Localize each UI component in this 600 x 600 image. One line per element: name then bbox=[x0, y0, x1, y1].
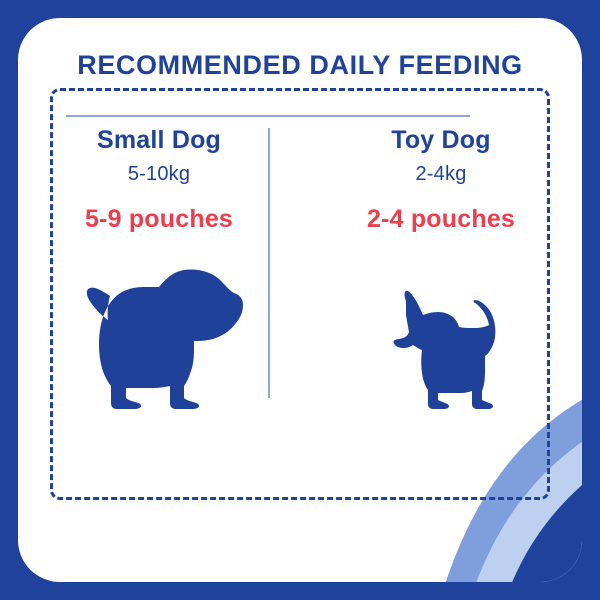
white-card: RECOMMENDED DAILY FEEDING Small Dog 5-10… bbox=[18, 18, 582, 582]
feeding-guide-graphic: RECOMMENDED DAILY FEEDING Small Dog 5-10… bbox=[0, 0, 600, 600]
dashed-border-frame bbox=[50, 88, 550, 500]
page-title: RECOMMENDED DAILY FEEDING bbox=[18, 52, 582, 79]
